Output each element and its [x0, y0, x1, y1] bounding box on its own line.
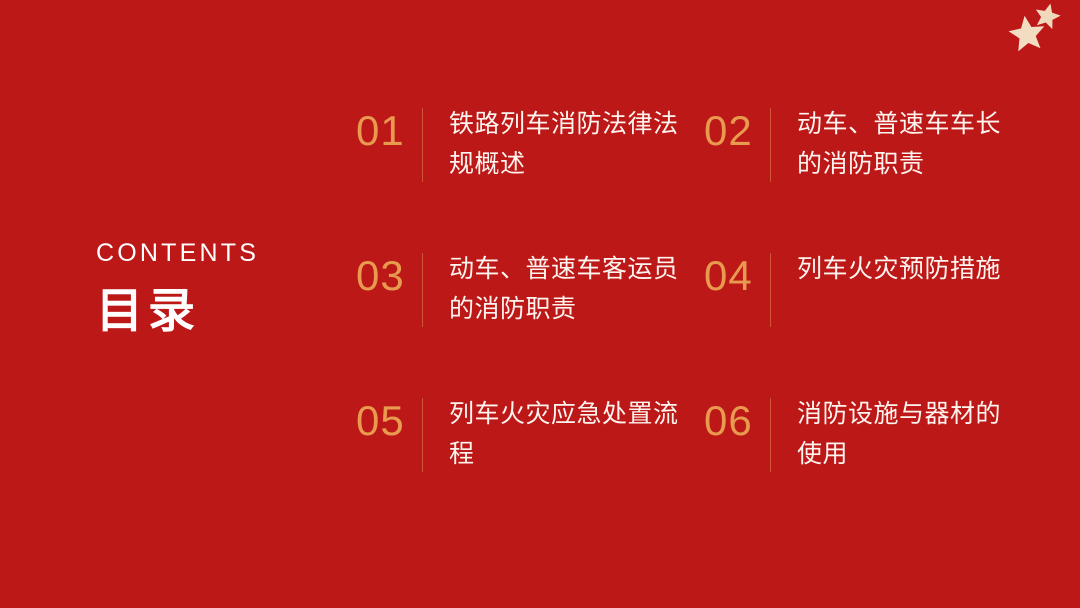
- agenda-number: 01: [356, 104, 414, 158]
- agenda-number: 06: [704, 394, 762, 448]
- agenda-divider: [770, 253, 771, 327]
- agenda-item-02[interactable]: 02 动车、普速车车长的消防职责: [704, 104, 1016, 249]
- agenda-number: 05: [356, 394, 414, 448]
- agenda-label: 动车、普速车客运员的消防职责: [449, 249, 699, 329]
- agenda-label: 列车火灾应急处置流程: [449, 394, 699, 474]
- agenda-label: 铁路列车消防法律法规概述: [449, 104, 699, 184]
- star-decoration-group: [990, 0, 1080, 72]
- agenda-label: 动车、普速车车长的消防职责: [797, 104, 1016, 184]
- agenda-number: 03: [356, 249, 414, 303]
- star-icon: [1031, 0, 1064, 32]
- agenda-divider: [770, 398, 771, 472]
- presentation-slide: CONTENTS 目录 01 铁路列车消防法律法规概述 02 动车、普速车车长的…: [0, 0, 1080, 608]
- agenda-divider: [422, 108, 423, 182]
- agenda-label: 消防设施与器材的使用: [797, 394, 1016, 474]
- star-icon: [1006, 12, 1049, 55]
- agenda-divider: [422, 253, 423, 327]
- agenda-item-04[interactable]: 04 列车火灾预防措施: [704, 249, 1016, 394]
- agenda-list: 01 铁路列车消防法律法规概述 02 动车、普速车车长的消防职责 03 动车、普…: [356, 104, 1016, 504]
- agenda-divider: [770, 108, 771, 182]
- agenda-item-01[interactable]: 01 铁路列车消防法律法规概述: [356, 104, 704, 249]
- agenda-item-06[interactable]: 06 消防设施与器材的使用: [704, 394, 1016, 504]
- agenda-divider: [422, 398, 423, 472]
- agenda-number: 04: [704, 249, 762, 303]
- agenda-number: 02: [704, 104, 762, 158]
- page-title: 目录: [96, 286, 326, 338]
- slide-heading: CONTENTS 目录: [96, 240, 326, 337]
- contents-eyebrow: CONTENTS: [96, 240, 326, 268]
- agenda-item-05[interactable]: 05 列车火灾应急处置流程: [356, 394, 704, 504]
- agenda-item-03[interactable]: 03 动车、普速车客运员的消防职责: [356, 249, 704, 394]
- agenda-label: 列车火灾预防措施: [797, 249, 1001, 289]
